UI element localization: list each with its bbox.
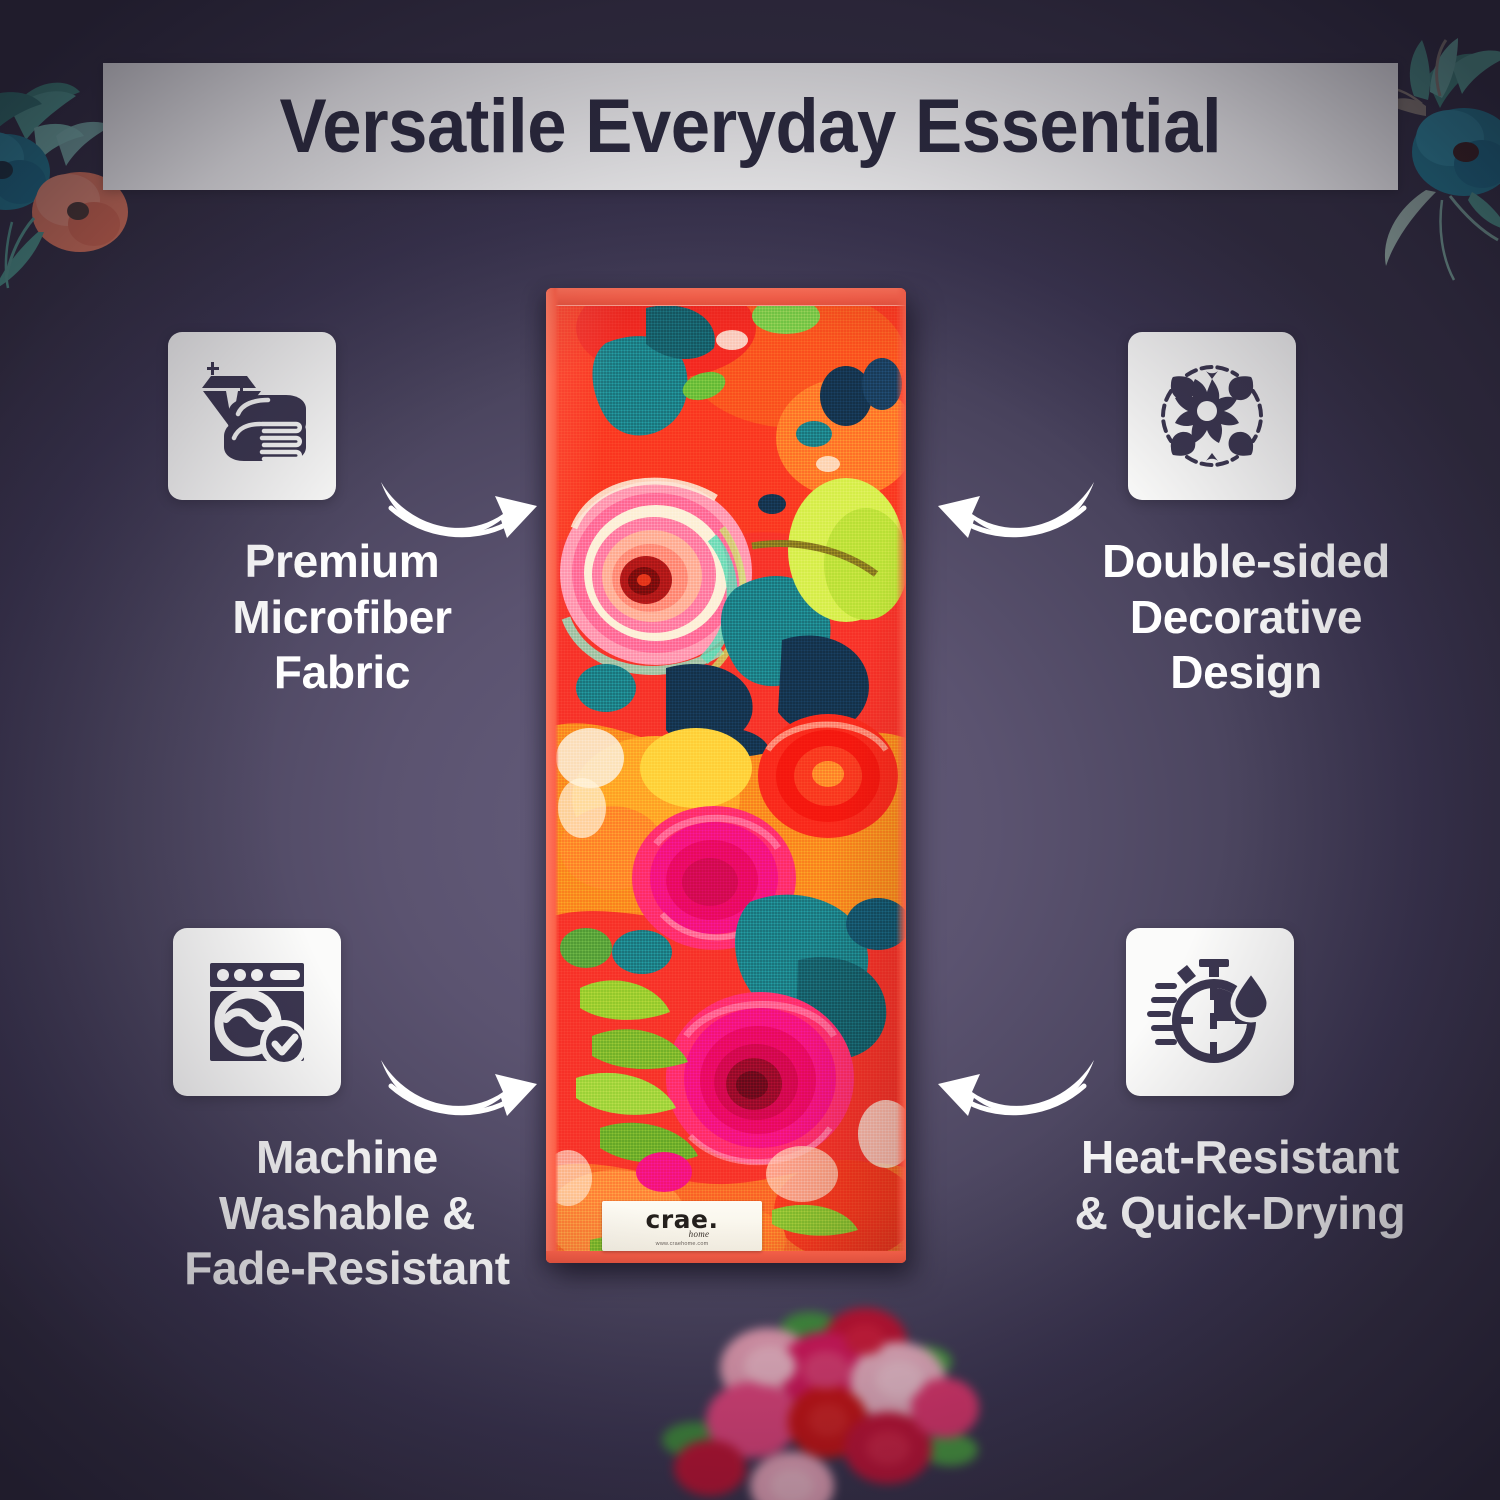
towel-bottom-hem bbox=[546, 1251, 906, 1263]
feature-caption: Heat-Resistant & Quick-Drying bbox=[1040, 1130, 1440, 1241]
product-brand-label: crae. home www.craehome.com bbox=[602, 1201, 762, 1251]
towel-top-hem bbox=[546, 288, 906, 306]
diamond-folded-towels-icon bbox=[186, 350, 318, 482]
feature-icon-tile bbox=[1128, 332, 1296, 500]
feature-double-sided-decorative-design: Double-sided Decorative Design bbox=[1046, 332, 1446, 701]
feature-caption: Machine Washable & Fade-Resistant bbox=[147, 1130, 547, 1297]
floral-decoration-bottom-bouquet bbox=[660, 1300, 990, 1500]
towel-right-edge bbox=[896, 288, 906, 1263]
page-title: Versatile Everyday Essential bbox=[280, 89, 1222, 165]
feature-icon-tile bbox=[168, 332, 336, 500]
feature-caption: Premium Microfiber Fabric bbox=[142, 534, 542, 701]
feature-premium-microfiber-fabric: Premium Microfiber Fabric bbox=[160, 332, 560, 701]
product-image-towel: crae. home www.craehome.com bbox=[546, 288, 906, 1263]
feature-heat-resistant-quick-drying: Heat-Resistant & Quick-Drying bbox=[1040, 928, 1440, 1241]
infographic-canvas: Versatile Everyday Essential bbox=[0, 0, 1500, 1500]
brand-website: www.craehome.com bbox=[656, 1241, 709, 1247]
feature-icon-tile bbox=[173, 928, 341, 1096]
washing-machine-check-icon bbox=[196, 951, 318, 1073]
header-banner: Versatile Everyday Essential bbox=[103, 63, 1398, 190]
brand-subtitle: home bbox=[689, 1229, 710, 1239]
towel-shading bbox=[546, 288, 906, 1263]
feature-icon-tile bbox=[1126, 928, 1294, 1096]
feature-machine-washable-fade-resistant: Machine Washable & Fade-Resistant bbox=[165, 928, 565, 1297]
feature-caption: Double-sided Decorative Design bbox=[1046, 534, 1446, 701]
stopwatch-water-drop-icon bbox=[1147, 951, 1273, 1073]
floral-mandala-icon bbox=[1149, 353, 1275, 479]
